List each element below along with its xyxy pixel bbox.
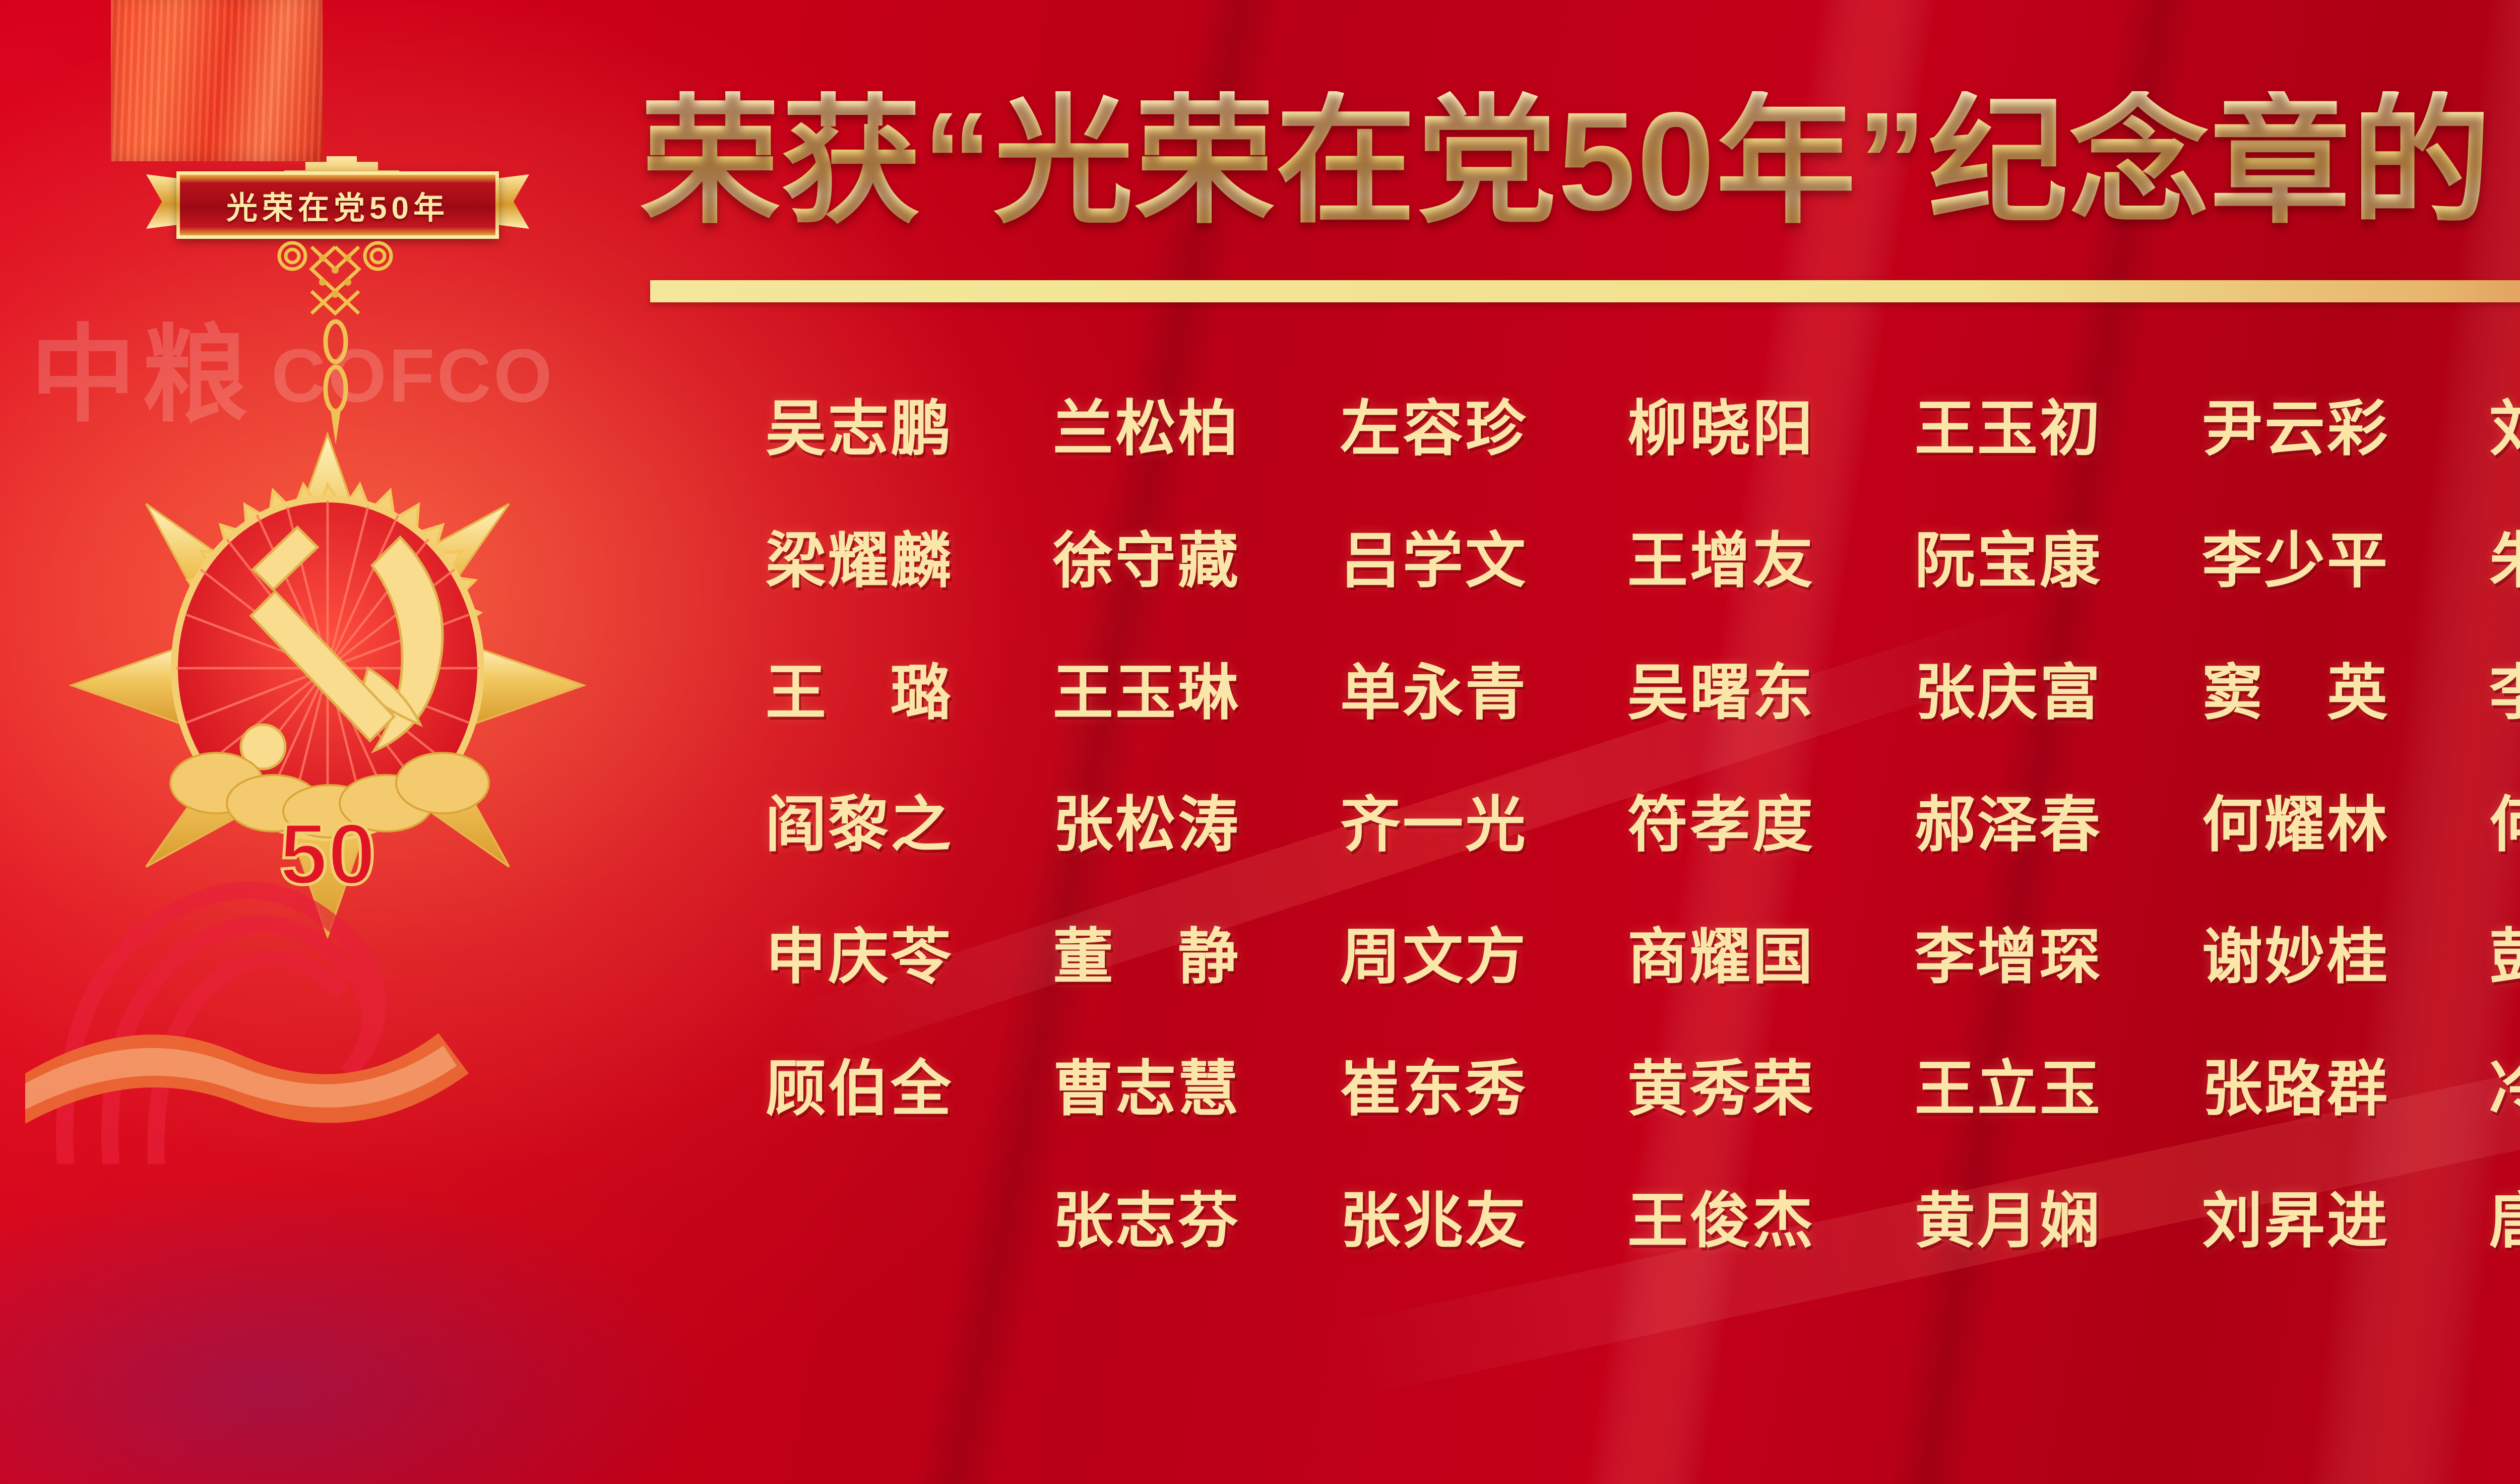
banner-plate: 光荣在党50年 <box>176 171 499 239</box>
name-cell: 刘昇进 <box>2152 1155 2439 1287</box>
name-cell: 李增琛 <box>1865 891 2152 1023</box>
name-cell: 吴曙东 <box>1578 627 1865 759</box>
name-cell: 黄月娴 <box>1865 1155 2152 1287</box>
name-cell: 张庆富 <box>1865 627 2152 759</box>
name-cell: 谢妙桂 <box>2152 891 2439 1023</box>
name-cell: 兰松柏 <box>1003 363 1290 495</box>
name-cell: 何玉茹 <box>2439 759 2520 891</box>
name-cell: 彭家齐 <box>2439 891 2520 1023</box>
name-cell: 梁耀麟 <box>716 495 1003 627</box>
name-cell: 王玉琳 <box>1003 627 1290 759</box>
name-cell: 阎黎之 <box>716 759 1003 891</box>
name-cell: 柳晓阳 <box>1578 363 1865 495</box>
name-cell: 王增友 <box>1578 495 1865 627</box>
name-cell: 尹云彩 <box>2152 363 2439 495</box>
name-cell: 刘润庄 <box>2439 363 2520 495</box>
name-cell: 黄秀荣 <box>1578 1023 1865 1155</box>
name-cell: 周文方 <box>1290 891 1578 1023</box>
title-text: 荣获“光荣在党50年”纪念章的 404 名老党员 <box>640 91 2520 231</box>
name-cell: 朱恩林 <box>2439 495 2520 627</box>
name-cell: 顾伯全 <box>716 1023 1003 1155</box>
name-cell: 商耀国 <box>1578 891 1865 1023</box>
medal-banner: 光荣在党50年 <box>146 156 529 242</box>
name-cell: 何耀林 <box>2152 759 2439 891</box>
name-cell: 崔东秀 <box>1290 1023 1578 1155</box>
name-cell: 齐一光 <box>1290 759 1578 891</box>
chinese-knot-icon <box>272 236 398 332</box>
name-cell: 吕学文 <box>1290 495 1578 627</box>
name-cell: 王俊杰 <box>1578 1155 1865 1287</box>
name-cell: 张路群 <box>2152 1023 2439 1155</box>
poster-title: 荣获“光荣在党50年”纪念章的 404 名老党员 <box>640 55 2520 267</box>
name-cell: 董 静 <box>1003 891 1290 1023</box>
banner-text: 光荣在党50年 <box>226 182 449 228</box>
name-cell: 唐正云 <box>2439 1155 2520 1287</box>
commemorative-medal: 光荣在党50年 <box>55 116 620 1174</box>
name-cell: 冷万长 <box>2439 1023 2520 1155</box>
name-cell: 左容珍 <box>1290 363 1578 495</box>
name-cell: 李少平 <box>2152 495 2439 627</box>
honoree-names-grid: 吴志鹏兰松柏左容珍柳晓阳王玉初尹云彩刘润庄邓秀光戚汝权黄建仁梁耀麟徐守藏吕学文王… <box>716 363 2520 1287</box>
name-cell: 单永青 <box>1290 627 1578 759</box>
name-cell: 张松涛 <box>1003 759 1290 891</box>
name-cell: 曹志慧 <box>1003 1023 1290 1155</box>
name-cell: 王玉初 <box>1865 363 2152 495</box>
name-cell: 张志芬 <box>1003 1155 1290 1287</box>
name-cell: 吴志鹏 <box>716 363 1003 495</box>
name-cell: 窦 英 <box>2152 627 2439 759</box>
name-cell: 符孝度 <box>1578 759 1865 891</box>
name-cell: 徐守藏 <box>1003 495 1290 627</box>
name-cell: 阮宝康 <box>1865 495 2152 627</box>
name-cell: 张兆友 <box>1290 1155 1578 1287</box>
name-cell: 申庆苓 <box>716 891 1003 1023</box>
name-cell: 郝泽春 <box>1865 759 2152 891</box>
poster-canvas: 中粮 COFCO 光荣在党50年 <box>0 0 2520 1484</box>
ribbon-swirl-decoration <box>25 771 570 1164</box>
medal-chain-icon <box>322 318 350 444</box>
name-cell: 王立玉 <box>1865 1023 2152 1155</box>
name-cell: 李 智 <box>2439 627 2520 759</box>
title-divider-rule <box>650 280 2520 302</box>
name-cell: 王 璐 <box>716 627 1003 759</box>
